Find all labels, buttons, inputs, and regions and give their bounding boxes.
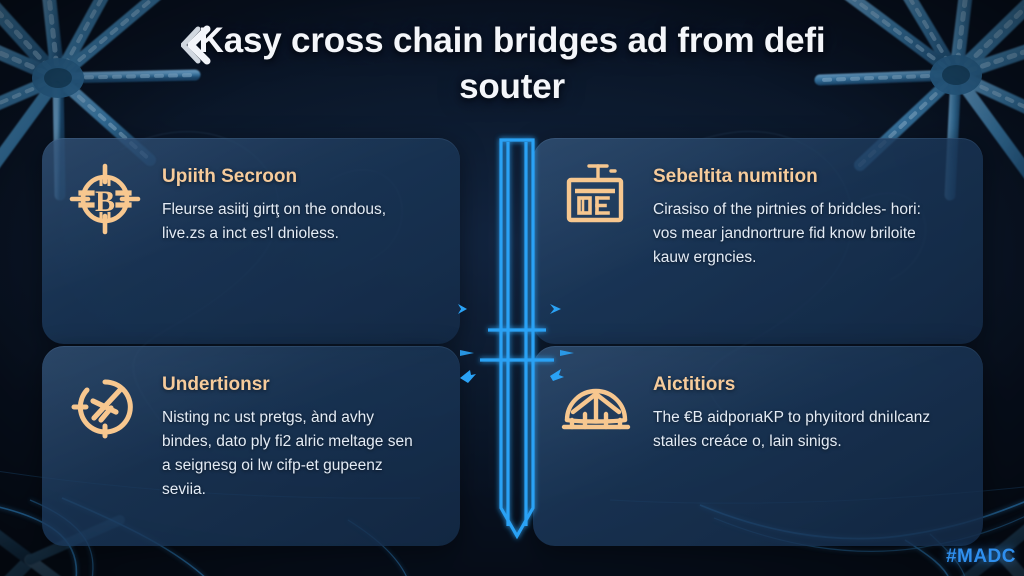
page-title: Kasy cross chain bridges ad from defi so… [0, 18, 1024, 110]
card-body: The €B aidporıaKP to phyıitord dniılcanz… [653, 406, 943, 454]
card-heading: Aictitiors [653, 374, 961, 397]
card-heading: Undertionsr [162, 374, 438, 397]
chevron-left-icon[interactable] [181, 25, 215, 65]
card-text-block: Sebeltita numition Cirasiso of the pirtn… [653, 162, 961, 270]
watermark-hashtag: #MADC [946, 546, 1016, 568]
card-body: Fleurse asiitj girtţ on the ondous, live… [162, 198, 414, 246]
feature-card-top-left[interactable]: B Upiith Secroon Fleurse asiitj girtţ on… [42, 138, 460, 344]
title-line-1: Kasy cross chain bridges ad from defi [0, 18, 1024, 64]
card-body: Cirasiso of the pirtnies of bridcles- ho… [653, 198, 943, 270]
card-text-block: Aictitiors The €B aidporıaKP to phyıitor… [653, 370, 961, 454]
suspension-bridge-divider [432, 128, 602, 556]
bitcoin-target-icon: B [68, 162, 142, 236]
card-text-block: Upiith Secroon Fleurse asiitj girtţ on t… [162, 162, 438, 246]
poster-canvas: Kasy cross chain bridges ad from defi so… [0, 0, 1024, 576]
card-heading: Upiith Secroon [162, 166, 438, 189]
feature-card-bottom-left[interactable]: Undertionsr Nisting nc ust pretgs, ànd a… [42, 346, 460, 546]
title-line-2: souter [0, 64, 1024, 110]
card-body: Nisting nc ust pretgs, ànd avhy bindes, … [162, 406, 414, 502]
svg-text:B: B [95, 185, 115, 218]
card-text-block: Undertionsr Nisting nc ust pretgs, ànd a… [162, 370, 438, 502]
bridge-arrow-glyphs [458, 304, 574, 383]
card-heading: Sebeltita numition [653, 166, 961, 189]
compass-crosshair-icon [68, 370, 142, 444]
